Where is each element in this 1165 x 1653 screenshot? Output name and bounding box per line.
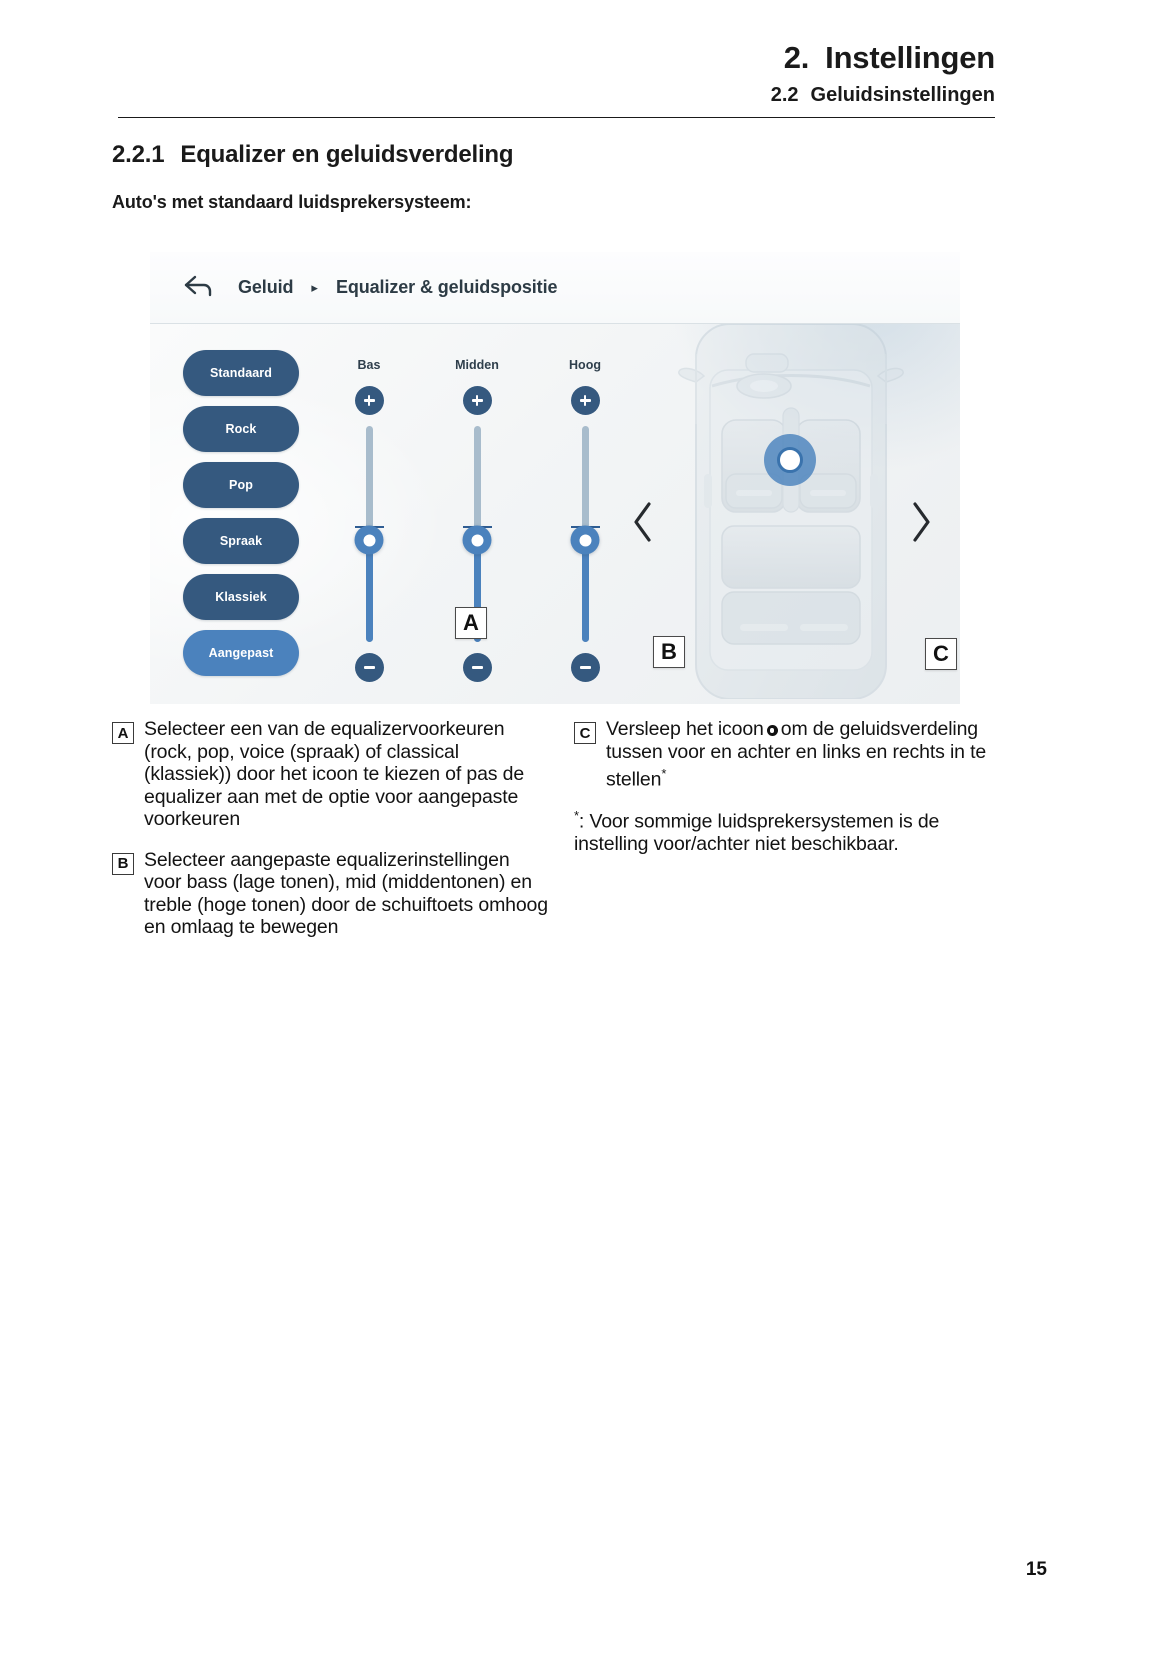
plus-icon-vertical [584, 395, 586, 406]
footnote: *: Voor sommige luidsprekersystemen is d… [574, 805, 1010, 856]
caption-c-text-before: Versleep het icoon [606, 718, 764, 740]
midden-slider-handle[interactable] [463, 526, 492, 555]
sound-position-ring-icon [767, 725, 778, 736]
bas-slider-fill [366, 540, 373, 642]
breadcrumb: Geluid ▸ Equalizer & geluidspositie [150, 252, 960, 324]
bas-decrease-button[interactable] [355, 653, 384, 682]
hoog-slider-handle[interactable] [571, 526, 600, 555]
caption-key-a: A [112, 722, 134, 744]
infotainment-screenshot: Geluid ▸ Equalizer & geluidspositie Stan… [150, 252, 960, 704]
plus-icon-vertical [476, 395, 478, 406]
slider-label-bas: Bas [358, 358, 381, 372]
hoog-increase-button[interactable] [571, 386, 600, 415]
hoog-decrease-button[interactable] [571, 653, 600, 682]
slider-hoog: Hoog [562, 358, 608, 682]
slider-label-midden: Midden [455, 358, 499, 372]
section-title: Geluidsinstellingen [811, 84, 995, 107]
breadcrumb-current: Equalizer & geluidspositie [336, 277, 557, 298]
chevron-right-icon[interactable] [908, 500, 934, 544]
callout-chip-c: C [925, 638, 957, 670]
preset-rock[interactable]: Rock [183, 406, 299, 452]
bas-slider-handle[interactable] [355, 526, 384, 555]
preset-spraak[interactable]: Spraak [183, 518, 299, 564]
preset-aangepast[interactable]: Aangepast [183, 630, 299, 676]
preset-standaard[interactable]: Standaard [183, 350, 299, 396]
caption-a: A Selecteer een van de equalizervoorkeur… [112, 718, 548, 831]
caption-c: C Versleep het icoonom de geluidsverdeli… [574, 718, 1010, 791]
subsection-title: Equalizer en geluidsverdeling [180, 141, 513, 169]
slider-bas: Bas [346, 358, 392, 682]
caption-text-c: Versleep het icoonom de geluidsverdeling… [606, 718, 1010, 791]
minus-icon [580, 666, 591, 668]
subsection-number: 2.2.1 [112, 141, 164, 169]
section-heading: 2.2 Geluidsinstellingen [118, 84, 995, 107]
preset-pop[interactable]: Pop [183, 462, 299, 508]
chapter-title: Instellingen [825, 40, 995, 76]
puck-ring [777, 447, 803, 473]
breadcrumb-parent[interactable]: Geluid [238, 277, 293, 298]
bas-increase-button[interactable] [355, 386, 384, 415]
minus-icon [472, 666, 483, 668]
breadcrumb-separator-icon: ▸ [311, 280, 318, 296]
caption-b: B Selecteer aangepaste equalizerinstelli… [112, 849, 548, 939]
page-number: 15 [1026, 1559, 1047, 1581]
caption-text-a: Selecteer een van de equalizervoorkeuren… [144, 718, 548, 831]
equalizer-preset-list: Standaard Rock Pop Spraak Klassiek Aange… [183, 350, 299, 676]
caption-c-asterisk: * [661, 766, 666, 781]
preset-klassiek[interactable]: Klassiek [183, 574, 299, 620]
caption-block: A Selecteer een van de equalizervoorkeur… [112, 718, 1012, 957]
hoog-slider-fill [582, 540, 589, 642]
callout-chip-a: A [455, 607, 487, 639]
caption-key-c: C [574, 722, 596, 744]
footnote-text: : Voor sommige luidsprekersystemen is de… [574, 811, 939, 856]
callout-chip-b: B [653, 636, 685, 668]
back-arrow-icon[interactable] [182, 273, 216, 303]
minus-icon [364, 666, 375, 668]
sound-position-puck-icon[interactable] [764, 434, 816, 486]
subsection-heading: 2.2.1 Equalizer en geluidsverdeling [112, 141, 513, 169]
subheading: Auto's met standaard luidsprekersysteem: [112, 192, 471, 213]
page-header: 2. Instellingen 2.2 Geluidsinstellingen [118, 40, 995, 118]
chapter-number: 2. [784, 40, 809, 76]
caption-text-b: Selecteer aangepaste equalizerinstelling… [144, 849, 548, 939]
hoog-slider-track[interactable] [582, 426, 589, 642]
car-topdown-icon [678, 324, 904, 699]
bas-slider-track[interactable] [366, 426, 373, 642]
section-number: 2.2 [771, 84, 799, 107]
caption-key-b: B [112, 853, 134, 875]
slider-label-hoog: Hoog [569, 358, 601, 372]
chapter-heading: 2. Instellingen [118, 40, 995, 76]
header-divider [118, 117, 995, 118]
chevron-left-icon[interactable] [630, 500, 656, 544]
caption-column-left: A Selecteer een van de equalizervoorkeur… [112, 718, 548, 957]
midden-decrease-button[interactable] [463, 653, 492, 682]
midden-increase-button[interactable] [463, 386, 492, 415]
plus-icon-vertical [368, 395, 370, 406]
caption-column-right: C Versleep het icoonom de geluidsverdeli… [574, 718, 1010, 957]
